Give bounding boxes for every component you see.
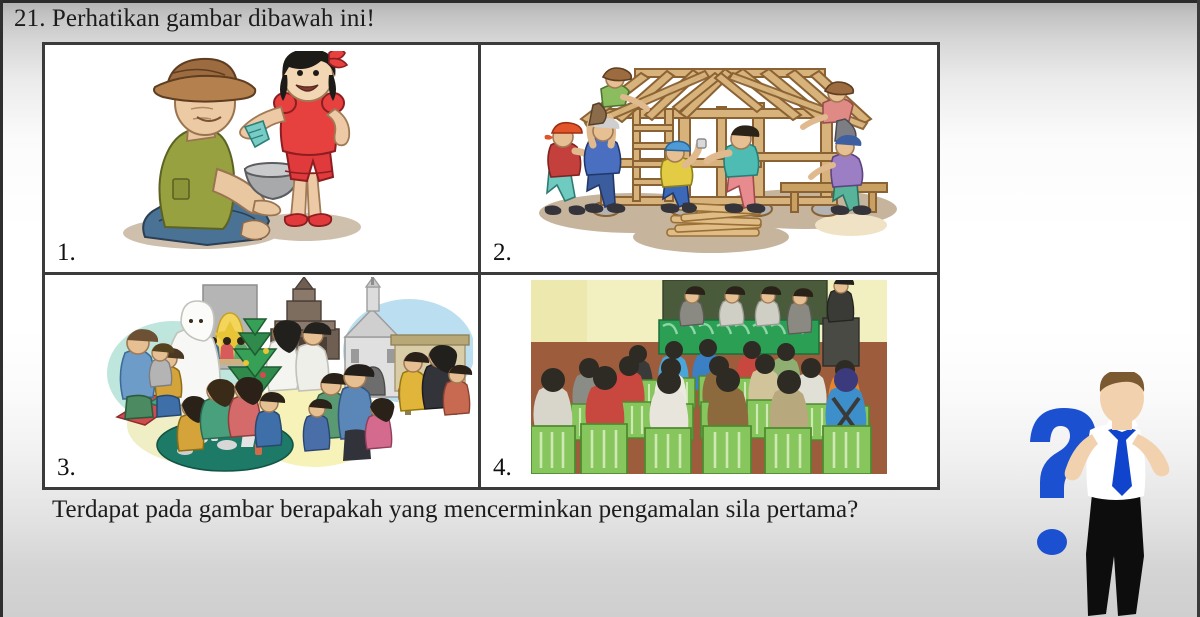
grid-cell-1[interactable]: 1. xyxy=(45,45,481,275)
top-edge-line xyxy=(0,0,1200,3)
presenter-figure xyxy=(1008,372,1194,617)
cell-number-1: 1. xyxy=(57,240,76,266)
image-grid: 1. xyxy=(42,42,940,490)
question-text: Terdapat pada gambar berapakah yang menc… xyxy=(52,495,858,525)
slide-screen: 21. Perhatikan gambar dibawah ini! xyxy=(0,0,1200,617)
religious-diversity-worship-illustration xyxy=(103,277,473,477)
cell-number-3: 3. xyxy=(57,455,76,481)
giving-alms-to-beggar-illustration xyxy=(93,51,453,261)
left-edge-line xyxy=(0,0,3,617)
grid-cell-4[interactable]: 4. xyxy=(481,275,937,487)
gotong-royong-building-house-illustration xyxy=(515,47,905,255)
page-title: 21. Perhatikan gambar dibawah ini! xyxy=(14,4,375,34)
grid-cell-2[interactable]: 2. xyxy=(481,45,937,275)
question-mark-icon xyxy=(1030,408,1096,555)
musyawarah-meeting-illustration xyxy=(531,280,887,474)
cell-number-2: 2. xyxy=(493,240,512,266)
grid-cell-3[interactable]: 3. xyxy=(45,275,481,487)
cell-number-4: 4. xyxy=(493,455,512,481)
